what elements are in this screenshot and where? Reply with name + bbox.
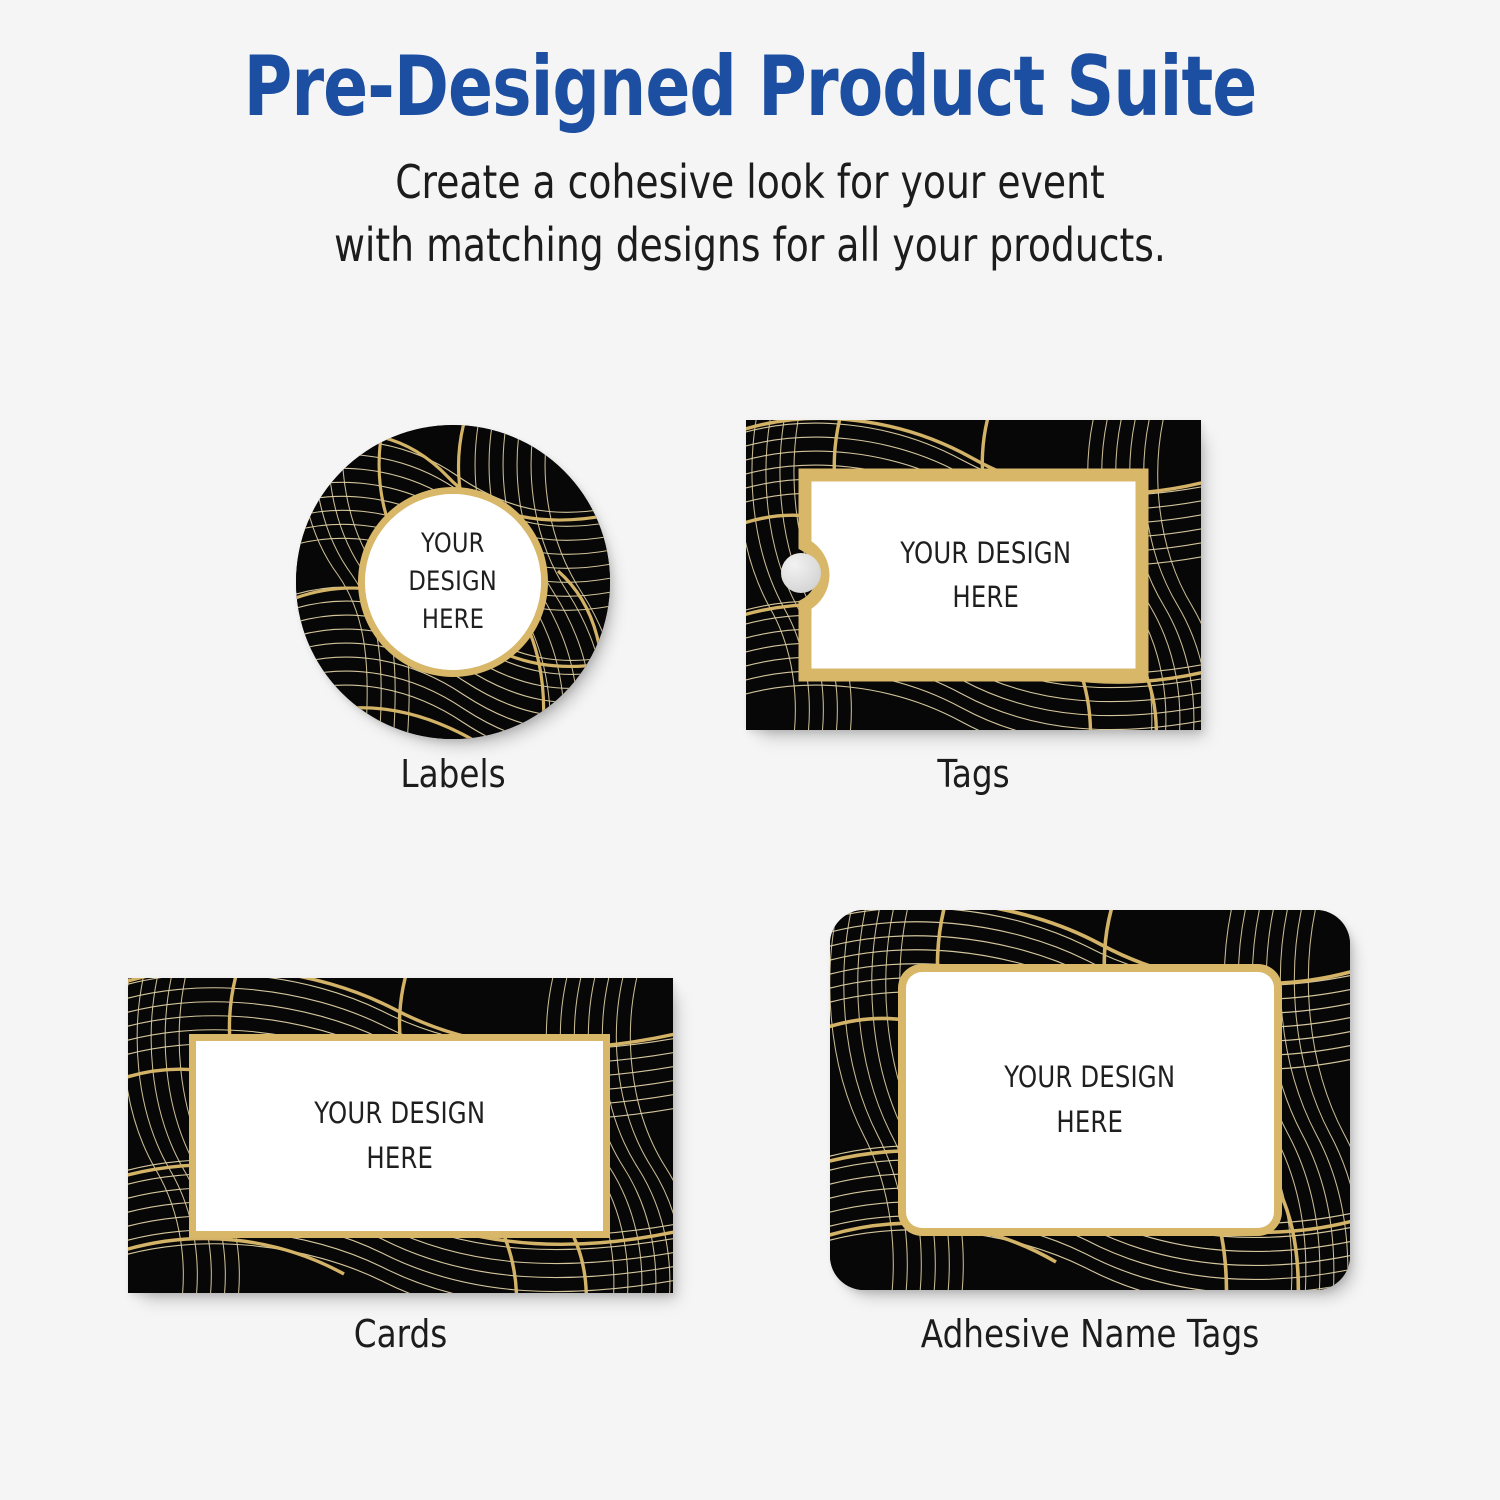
product-caption-tags: Tags [778, 752, 1169, 796]
product-caption-cards: Cards [166, 1312, 635, 1356]
design-area-nametags[interactable] [906, 972, 1274, 1228]
tag-design-outline [805, 475, 1142, 675]
product-caption-nametags: Adhesive Name Tags [866, 1312, 1313, 1356]
card-artwork[interactable]: YOUR DESIGN HERE [128, 978, 673, 1293]
tag-artwork[interactable]: YOUR DESIGN HERE [746, 420, 1201, 730]
poster-canvas: Pre-Designed Product Suite Create a cohe… [0, 0, 1500, 1500]
label-circle-artwork[interactable]: YOUR DESIGN HERE [296, 425, 610, 739]
product-grid: YOUR DESIGN HERE Labels [0, 0, 1500, 1500]
tag-punch-hole [781, 553, 821, 593]
design-area-cards[interactable] [196, 1041, 603, 1231]
design-area-labels[interactable] [365, 494, 541, 670]
design-area-tags[interactable] [798, 468, 1149, 682]
nametag-artwork[interactable]: YOUR DESIGN HERE [830, 910, 1350, 1290]
product-caption-labels: Labels [318, 752, 588, 796]
